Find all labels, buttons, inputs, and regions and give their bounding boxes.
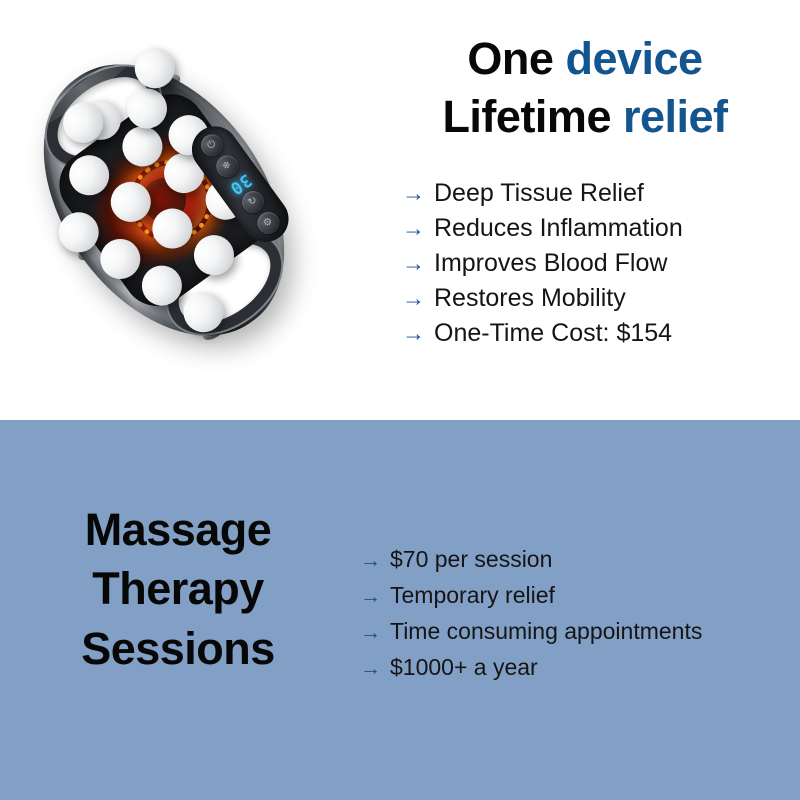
list-item-label: Improves Blood Flow bbox=[434, 246, 667, 281]
comparison-title: Massage Therapy Sessions bbox=[28, 500, 328, 678]
arrow-right-icon: → bbox=[360, 615, 381, 650]
speed-icon[interactable]: ⚙ bbox=[253, 208, 284, 239]
comparison-list: → $70 per session → Temporary relief → T… bbox=[360, 542, 800, 686]
headline-highlight-1: device bbox=[565, 33, 702, 84]
list-item-label: Time consuming appointments bbox=[390, 614, 702, 649]
list-item: → $1000+ a year bbox=[360, 650, 800, 686]
arrow-right-icon: → bbox=[402, 211, 425, 246]
list-item: → Reduces Inflammation bbox=[402, 211, 792, 246]
list-item-label: $1000+ a year bbox=[390, 650, 538, 685]
list-item-label: Deep Tissue Relief bbox=[434, 176, 644, 211]
arrow-right-icon: → bbox=[402, 176, 425, 211]
list-item-label: One-Time Cost: $154 bbox=[434, 316, 672, 351]
arrow-right-icon: → bbox=[360, 651, 381, 686]
product-image: ⏻ ❄ ↻ ⚙ 30 bbox=[12, 28, 382, 388]
comparison-title-line-2: Therapy bbox=[28, 559, 328, 618]
list-item: → Deep Tissue Relief bbox=[402, 176, 792, 211]
list-item: → Restores Mobility bbox=[402, 281, 792, 316]
arrow-right-icon: → bbox=[402, 281, 425, 316]
headline-line-2: Lifetime relief bbox=[385, 88, 785, 146]
list-item-label: Reduces Inflammation bbox=[434, 211, 683, 246]
list-item: → Improves Blood Flow bbox=[402, 246, 792, 281]
headline-highlight-2: relief bbox=[623, 91, 728, 142]
device-benefits-list: → Deep Tissue Relief → Reduces Inflammat… bbox=[402, 176, 792, 351]
list-item: → Time consuming appointments bbox=[360, 614, 800, 650]
comparison-title-line-1: Massage bbox=[28, 500, 328, 559]
arrow-right-icon: → bbox=[360, 543, 381, 578]
list-item: → One-Time Cost: $154 bbox=[402, 316, 792, 351]
product-stage: ⏻ ❄ ↻ ⚙ 30 bbox=[12, 28, 382, 388]
list-item: → Temporary relief bbox=[360, 578, 800, 614]
arrow-right-icon: → bbox=[402, 316, 425, 351]
list-item-label: Restores Mobility bbox=[434, 281, 626, 316]
list-item-label: $70 per session bbox=[390, 542, 552, 577]
arrow-right-icon: → bbox=[402, 246, 425, 281]
comparison-title-line-3: Sessions bbox=[28, 619, 328, 678]
headline-line-1: One device bbox=[385, 30, 785, 88]
headline-plain-2: Lifetime bbox=[442, 91, 623, 142]
page-title: One device Lifetime relief bbox=[385, 30, 785, 145]
promo-poster: ⏻ ❄ ↻ ⚙ 30 One device Lifetime relief → … bbox=[0, 0, 800, 800]
massager-device: ⏻ ❄ ↻ ⚙ 30 bbox=[0, 20, 333, 380]
headline-plain-1: One bbox=[467, 33, 565, 84]
list-item: → $70 per session bbox=[360, 542, 800, 578]
arrow-right-icon: → bbox=[360, 579, 381, 614]
list-item-label: Temporary relief bbox=[390, 578, 555, 613]
